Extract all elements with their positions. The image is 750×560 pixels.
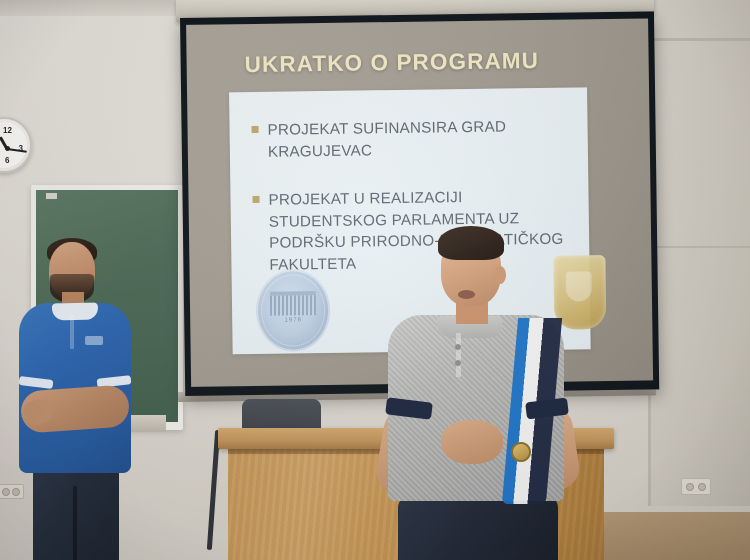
presenter-hair bbox=[438, 226, 504, 260]
slide-title: UKRATKO O PROGRAMU bbox=[244, 48, 539, 78]
wall-outlet-left[interactable] bbox=[0, 484, 24, 499]
bullet-square-icon bbox=[252, 126, 259, 133]
university-seal-logo: 1976 bbox=[256, 269, 331, 352]
clock-numeral-12: 12 bbox=[3, 126, 12, 135]
clock-face: 12 3 6 bbox=[0, 122, 27, 168]
outlet-socket bbox=[12, 488, 20, 496]
chalkboard-marker bbox=[46, 193, 57, 199]
floor bbox=[600, 512, 750, 560]
attendee-shirt-placket bbox=[70, 315, 74, 349]
presenter-clasped-hands bbox=[441, 420, 503, 464]
clock-center-pin bbox=[5, 146, 10, 151]
outlet-socket bbox=[686, 483, 694, 491]
right-wall-panel-seam bbox=[650, 246, 750, 248]
presenter-mouth bbox=[458, 290, 475, 299]
presenter-shirt-placket bbox=[456, 333, 461, 377]
attendee-shirt-collar bbox=[52, 303, 98, 321]
clock-numeral-6: 6 bbox=[5, 156, 9, 165]
slide-bullet-text: PROJEKAT SUFINANSIRA GRAD KRAGUJEVAC bbox=[267, 116, 552, 163]
classroom-presentation-scene: 12 3 6 UKRATKO O PROGRAMU PROJEKAT SUFIN… bbox=[0, 0, 750, 560]
seal-year-label: 1976 bbox=[256, 316, 330, 323]
slide-bullet-item: PROJEKAT SUFINANSIRA GRAD KRAGUJEVAC bbox=[251, 116, 552, 163]
slide-content-panel: PROJEKAT SUFINANSIRA GRAD KRAGUJEVAC PRO… bbox=[229, 87, 591, 354]
attendee-trouser-seam bbox=[73, 486, 77, 560]
slide-bullet-item: PROJEKAT U REALIZACIJI STUDENTSKOG PARLA… bbox=[252, 186, 573, 277]
right-wall bbox=[648, 0, 750, 560]
wall-outlet-right[interactable] bbox=[681, 478, 711, 495]
presenter-shirt-button bbox=[455, 360, 461, 366]
presenter-shirt-button bbox=[455, 344, 461, 350]
presenter-wristwatch bbox=[511, 442, 531, 462]
bullet-square-icon bbox=[252, 196, 259, 203]
presenter-ear bbox=[494, 266, 506, 284]
outlet-socket bbox=[698, 483, 706, 491]
seal-building-icon bbox=[270, 292, 316, 317]
slide-bullet-text: PROJEKAT U REALIZACIJI STUDENTSKOG PARLA… bbox=[268, 186, 573, 277]
right-wall-top-seam bbox=[648, 38, 750, 41]
outlet-socket bbox=[2, 488, 10, 496]
attendee-shirt-logo bbox=[85, 336, 103, 345]
